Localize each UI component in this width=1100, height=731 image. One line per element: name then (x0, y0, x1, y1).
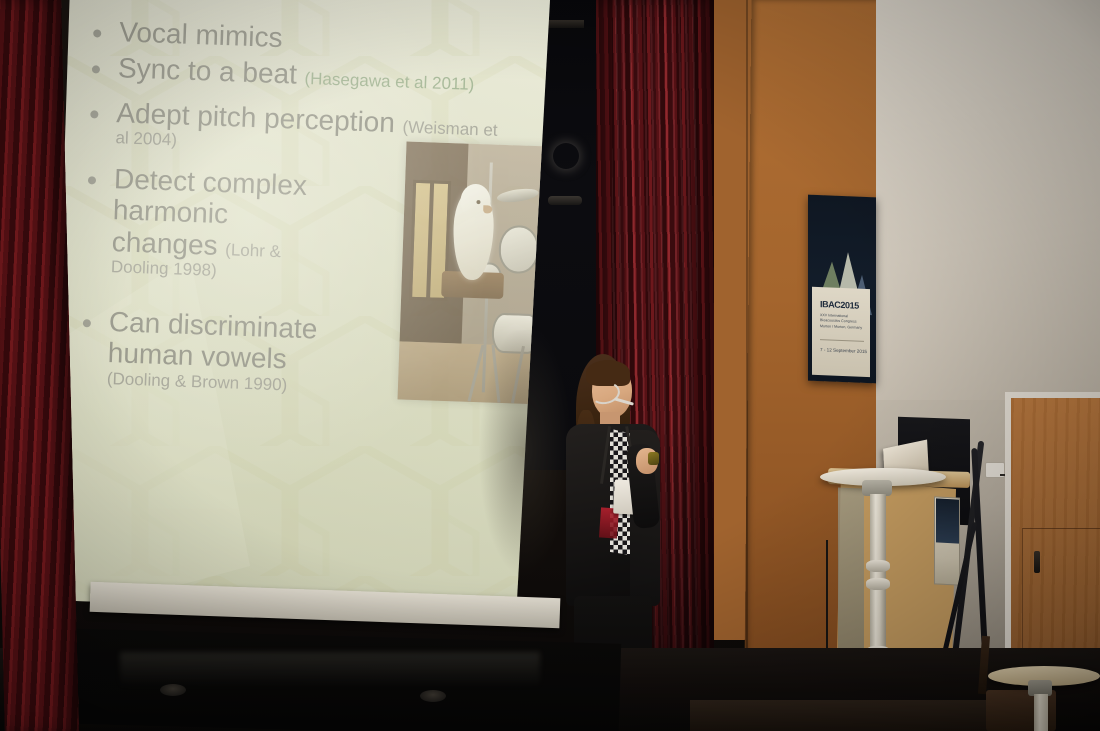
wall-poster-ibac: IBAC2015 XXV International Bioacoustics … (808, 195, 876, 384)
poster-logo-text: IBAC2015 (820, 299, 859, 311)
photo-scene: IBAC2015 XXV International Bioacoustics … (0, 0, 1100, 731)
stage-light-secondary-icon (548, 196, 582, 205)
bullet-text: Can discriminate human vowels (107, 306, 318, 375)
pedestal-knob-2 (866, 578, 890, 590)
photo-tom-drum-1 (498, 225, 540, 274)
bullet-dot-icon (92, 66, 100, 74)
poster-divider (820, 339, 864, 342)
door-handle[interactable] (1034, 551, 1040, 573)
floor-reflection (120, 652, 540, 688)
power-cable (826, 540, 836, 660)
photo-drum-legs (464, 344, 536, 404)
slide-bullet-item: Detect complex harmonic changes (Lohr & … (69, 162, 343, 286)
projection-screen: es as comparison? Vocal mimics Sync to a… (50, 0, 550, 646)
bullet-text: Sync to a beat (117, 53, 305, 91)
pedestal-knob-1 (866, 560, 890, 572)
bullet-dot-icon (88, 176, 96, 184)
bullet-text: Vocal mimics (119, 16, 283, 53)
slide-bullet-item: Can discriminate human vowels (Dooling &… (65, 305, 338, 397)
lectern-poster-graphic (936, 498, 960, 543)
slide-photo-cockatoo-drums (398, 142, 550, 405)
bullet-dot-icon (83, 319, 91, 327)
bullet-dot-icon (93, 29, 101, 37)
white-wall-upper (876, 0, 1100, 400)
lectern-poster (934, 496, 960, 585)
screen-stand-foot-right (420, 690, 446, 702)
stage-light-fixture-icon (553, 143, 579, 169)
floor-wood-strip (690, 700, 1020, 731)
screen-stand-foot-left (160, 684, 186, 696)
bullet-dot-icon (90, 110, 98, 118)
projection-screen-surface: es as comparison? Vocal mimics Sync to a… (50, 0, 550, 646)
presentation-clicker[interactable] (648, 452, 659, 465)
poster-subtitle-text: XXV International Bioacoustics Congress … (820, 313, 866, 331)
photo-cymbal-icon (496, 187, 539, 205)
bullet-citation: (Hasegawa et al 2011) (304, 69, 474, 94)
side-table-column (1034, 694, 1048, 731)
wood-panel-seam (746, 0, 748, 660)
poster-text-card: IBAC2015 XXV International Bioacoustics … (812, 287, 870, 377)
poster-date-text: 7 - 12 September 2015 (820, 347, 867, 354)
